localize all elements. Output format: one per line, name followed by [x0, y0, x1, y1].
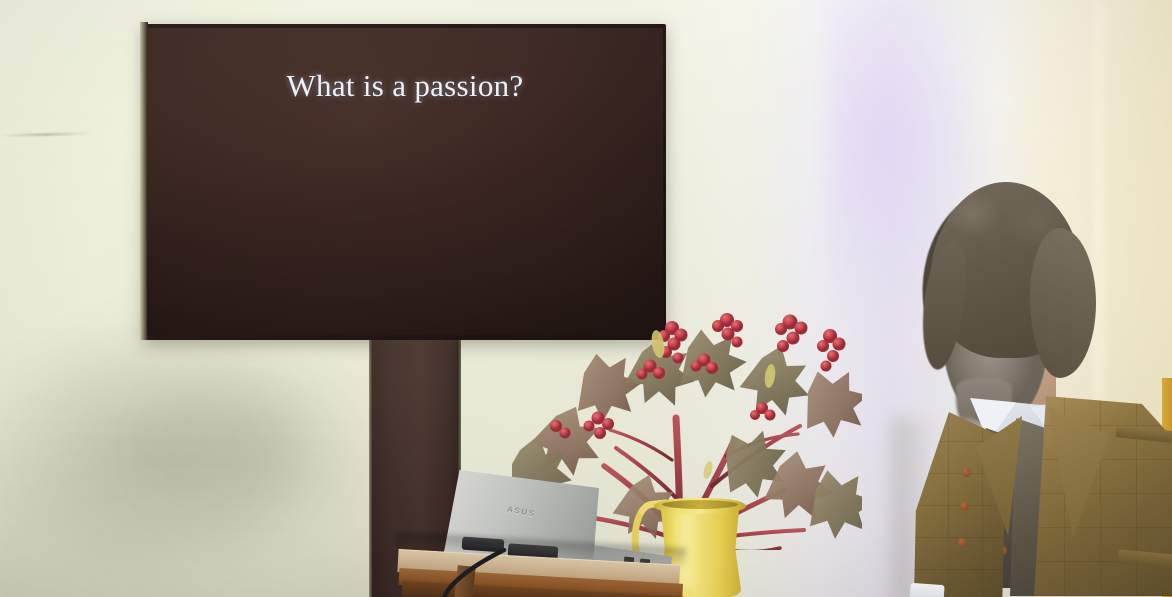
shirt-cuff — [909, 583, 944, 597]
jacket-button — [960, 502, 969, 511]
jacket-button — [962, 468, 971, 477]
vase-mouth — [662, 500, 738, 509]
lectern-leg — [454, 565, 475, 597]
lecture-room-scene: What is a passion? — [0, 0, 1172, 597]
wall-shadow-lower — [0, 430, 390, 597]
flat-screen-display[interactable]: What is a passion? — [143, 24, 666, 340]
screen-surface: What is a passion? — [147, 28, 663, 335]
hair-lock-right — [1030, 228, 1096, 378]
slide-title: What is a passion? — [287, 68, 524, 104]
standing-speaker — [852, 182, 1172, 597]
jacket-button — [958, 538, 967, 547]
